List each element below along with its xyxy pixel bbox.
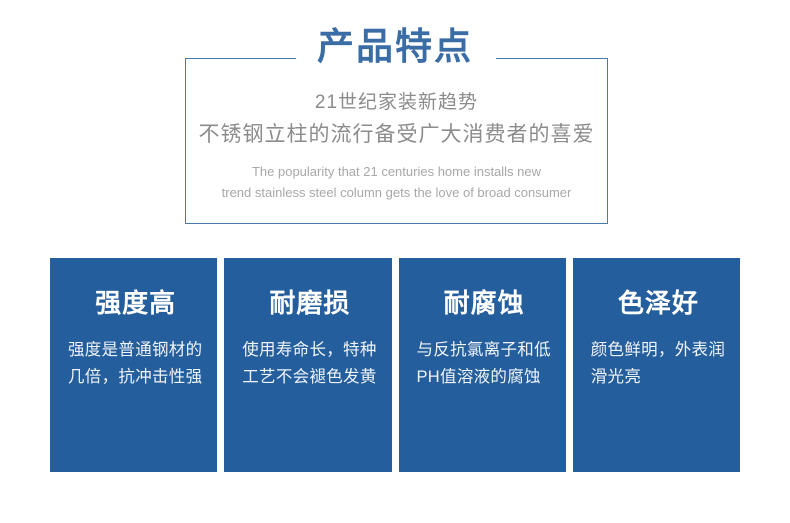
feature-card-wear-resistance[interactable]: 耐磨损 使用寿命长，特种工艺不会褪色发黄	[224, 258, 391, 472]
feature-card-description: 与反抗氯离子和低PH值溶液的腐蚀	[417, 337, 552, 391]
feature-card-title: 耐磨损	[242, 288, 377, 319]
subtitle-chinese-secondary: 不锈钢立柱的流行备受广大消费者的喜爱	[185, 118, 608, 152]
subtitle-english-line-2: trend stainless steel column gets the lo…	[185, 182, 608, 203]
feature-card-title: 强度高	[68, 288, 203, 319]
feature-card-title: 耐腐蚀	[417, 288, 552, 319]
subtitle-english-line-1: The popularity that 21 centuries home in…	[185, 161, 608, 182]
feature-card-color-quality[interactable]: 色泽好 颜色鲜明，外表润滑光亮	[573, 258, 740, 472]
feature-card-strength[interactable]: 强度高 强度是普通钢材的几倍，抗冲击性强	[50, 258, 217, 472]
page-title: 产品特点	[0, 26, 790, 69]
subtitle-chinese-primary: 21世纪家装新趋势	[185, 88, 608, 118]
feature-card-title: 色泽好	[591, 288, 726, 319]
feature-card-list: 强度高 强度是普通钢材的几倍，抗冲击性强 耐磨损 使用寿命长，特种工艺不会褪色发…	[50, 258, 740, 472]
feature-card-description: 颜色鲜明，外表润滑光亮	[591, 337, 726, 391]
banner-subtitle-block: 21世纪家装新趋势 不锈钢立柱的流行备受广大消费者的喜爱 The popular…	[185, 88, 608, 203]
feature-card-description: 使用寿命长，特种工艺不会褪色发黄	[242, 337, 377, 391]
subtitle-english-block: The popularity that 21 centuries home in…	[185, 161, 608, 203]
feature-card-description: 强度是普通钢材的几倍，抗冲击性强	[68, 337, 203, 391]
feature-card-corrosion-resistance[interactable]: 耐腐蚀 与反抗氯离子和低PH值溶液的腐蚀	[399, 258, 566, 472]
